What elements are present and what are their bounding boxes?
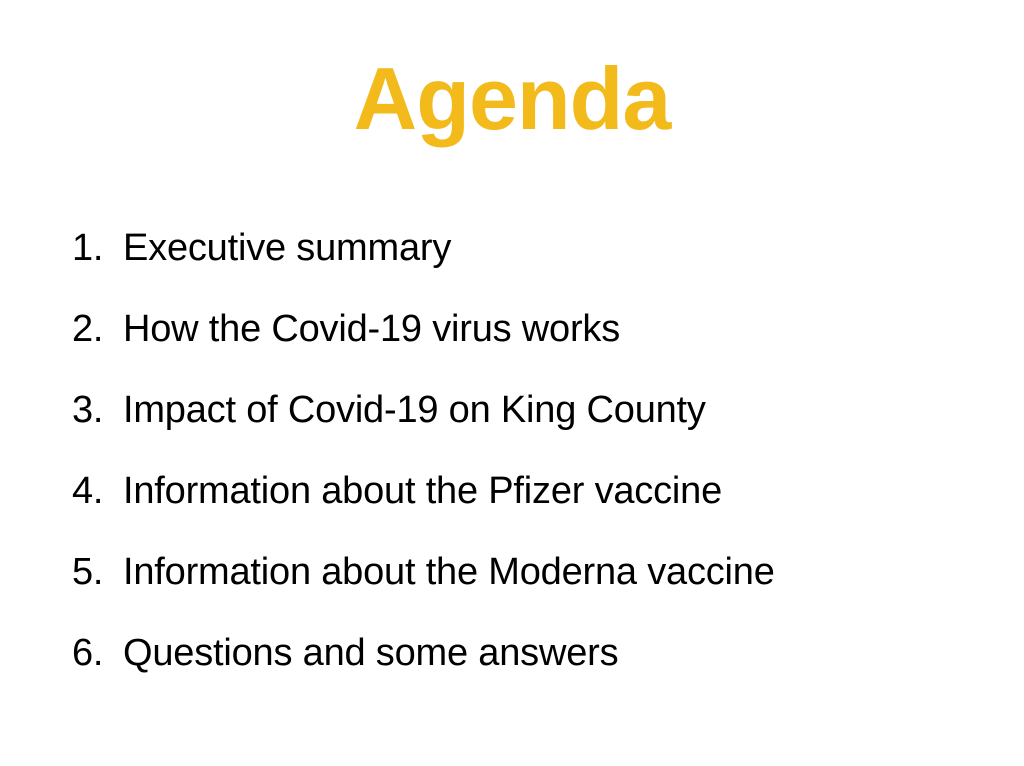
list-item-number: 6. (72, 633, 123, 673)
list-item: 2. How the Covid-19 virus works (72, 309, 972, 390)
list-item-label: Impact of Covid-19 on King County (123, 390, 706, 430)
list-item-label: Information about the Pfizer vaccine (123, 471, 722, 511)
list-item-number: 1. (72, 228, 123, 268)
presentation-slide: Agenda 1. Executive summary 2. How the C… (0, 0, 1024, 766)
list-item: 4. Information about the Pfizer vaccine (72, 471, 972, 552)
list-item: 3. Impact of Covid-19 on King County (72, 390, 972, 471)
list-item: 1. Executive summary (72, 228, 972, 309)
page-title: Agenda (0, 53, 1024, 145)
list-item: 5. Information about the Moderna vaccine (72, 552, 972, 633)
list-item-number: 2. (72, 309, 123, 349)
list-item-number: 4. (72, 471, 123, 511)
list-item-label: Information about the Moderna vaccine (123, 552, 775, 592)
list-item-label: Questions and some answers (123, 633, 618, 673)
list-item-number: 5. (72, 552, 123, 592)
list-item-label: Executive summary (123, 228, 451, 268)
list-item: 6. Questions and some answers (72, 633, 972, 714)
list-item-label: How the Covid-19 virus works (123, 309, 620, 349)
list-item-number: 3. (72, 390, 123, 430)
agenda-list: 1. Executive summary 2. How the Covid-19… (72, 228, 972, 714)
